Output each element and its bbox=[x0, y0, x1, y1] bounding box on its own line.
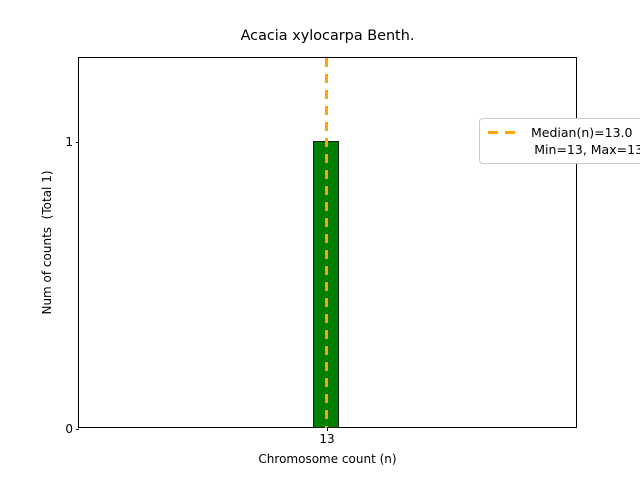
xtick-13-mark bbox=[327, 427, 328, 431]
legend-item-minmax: Min=13, Max=13 bbox=[487, 141, 640, 158]
y-axis-label: Num of counts (Total 1) bbox=[38, 57, 56, 428]
xtick-13-label: 13 bbox=[319, 433, 334, 446]
legend-dashed-line-icon bbox=[487, 124, 523, 141]
ytick-0-mark bbox=[76, 429, 80, 430]
plot-content-layer bbox=[79, 58, 576, 427]
page-title: Acacia xylocarpa Benth. bbox=[78, 28, 577, 45]
chart-legend: Median(n)=13.0 Min=13, Max=13 bbox=[479, 118, 640, 164]
legend-item-minmax-label: Min=13, Max=13 bbox=[534, 141, 640, 158]
ytick-1-mark bbox=[76, 142, 80, 143]
chart-figure: Acacia xylocarpa Benth. 0 1 13 Median(n)… bbox=[0, 0, 640, 480]
legend-item-median-label: Median(n)=13.0 bbox=[531, 124, 632, 141]
x-axis-label: Chromosome count (n) bbox=[78, 452, 577, 466]
median-vline-icon bbox=[325, 58, 328, 428]
ytick-1-label: 1 bbox=[65, 136, 73, 148]
plot-axes: 0 1 13 Median(n)=13.0 Min=13, Max=13 bbox=[78, 57, 577, 428]
legend-item-median: Median(n)=13.0 bbox=[487, 124, 640, 141]
ytick-0-label: 0 bbox=[65, 423, 73, 435]
